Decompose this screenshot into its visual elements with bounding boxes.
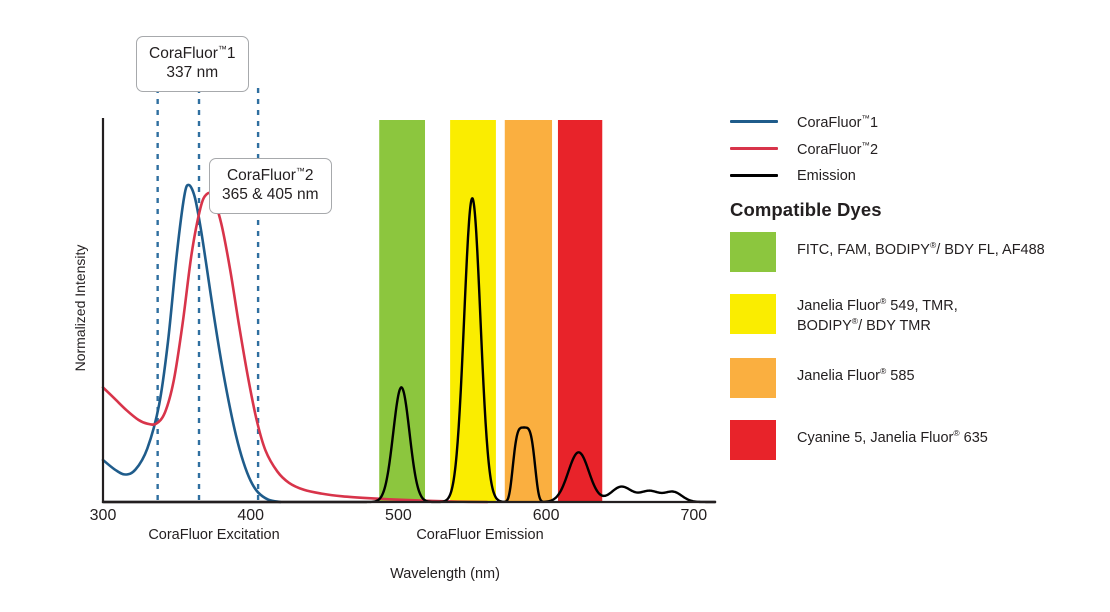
dye-label-line1: Cyanine 5, Janelia Fluor® 635 (797, 428, 988, 448)
callout-corafluor1: CoraFluor™1 337 nm (136, 36, 249, 92)
callout-cf1-line1: CoraFluor™1 (149, 44, 236, 64)
dye-name-text: Janelia Fluor (797, 298, 880, 314)
dye-name-text: Cyanine 5, Janelia Fluor (797, 430, 953, 446)
legend-label-text: CoraFluor (797, 114, 861, 130)
chart-canvas: CoraFluor™1 337 nm CoraFluor™2 365 & 405… (0, 0, 1110, 612)
legend-label-text: Emission (797, 168, 856, 184)
dye-detail-text: 585 (886, 368, 914, 384)
dye-detail-text: 635 (960, 430, 988, 446)
x-tick-600: 600 (516, 507, 576, 525)
callout-cf1-name: CoraFluor (149, 45, 218, 62)
trademark-symbol: ™ (861, 113, 870, 123)
legend-item-label: CoraFluor™1 (797, 113, 878, 131)
compatible-dyes-title: Compatible Dyes (730, 199, 882, 221)
dye-name-text2: BODIPY (797, 318, 852, 334)
dye-label: Janelia Fluor® 585 (797, 358, 915, 386)
emission-band-group (379, 120, 602, 502)
legend-item-1[interactable]: CoraFluor™2 (730, 135, 1090, 162)
dye-name-text: FITC, FAM, BODIPY (797, 242, 930, 258)
legend-line-swatch (730, 120, 778, 123)
legend-item-2[interactable]: Emission (730, 162, 1090, 189)
compatible-dyes-list: FITC, FAM, BODIPY®/ BDY FL, AF488Janelia… (730, 232, 1102, 482)
dye-detail-text2: / BDY TMR (858, 318, 931, 334)
trademark-symbol: ™ (861, 140, 870, 150)
x-tick-300: 300 (73, 507, 133, 525)
callout-corafluor2: CoraFluor™2 365 & 405 nm (209, 158, 332, 214)
series-legend: CoraFluor™1CoraFluor™2Emission (730, 108, 1090, 189)
excitation-curve (103, 185, 280, 502)
dye-color-swatch (730, 294, 776, 334)
dye-item-3[interactable]: Cyanine 5, Janelia Fluor® 635 (730, 420, 1102, 460)
x-axis-title: Wavelength (nm) (295, 566, 595, 582)
dye-label-line2: BODIPY®/ BDY TMR (797, 316, 958, 336)
dye-name-text: Janelia Fluor (797, 368, 880, 384)
dye-color-swatch (730, 358, 776, 398)
callout-cf2-wavelength: 365 & 405 nm (222, 186, 319, 205)
dye-label: FITC, FAM, BODIPY®/ BDY FL, AF488 (797, 232, 1045, 260)
legend-item-0[interactable]: CoraFluor™1 (730, 108, 1090, 135)
x-tick-700: 700 (664, 507, 724, 525)
callout-cf2-line1: CoraFluor™2 (222, 166, 319, 186)
callout-cf2-name: CoraFluor (227, 167, 296, 184)
legend-label-text: CoraFluor (797, 141, 861, 157)
dye-color-swatch (730, 232, 776, 272)
dye-label-line1: Janelia Fluor® 549, TMR, (797, 296, 958, 316)
legend-item-label: CoraFluor™2 (797, 140, 878, 158)
dye-label: Cyanine 5, Janelia Fluor® 635 (797, 420, 988, 448)
dye-label-line1: FITC, FAM, BODIPY®/ BDY FL, AF488 (797, 240, 1045, 260)
axis-section-emission: CoraFluor Emission (360, 527, 600, 543)
legend-line-swatch (730, 174, 778, 177)
trademark-symbol: ™ (296, 166, 305, 176)
dye-item-1[interactable]: Janelia Fluor® 549, TMR,BODIPY®/ BDY TMR (730, 294, 1102, 336)
dye-item-2[interactable]: Janelia Fluor® 585 (730, 358, 1102, 398)
dye-color-swatch (730, 420, 776, 460)
legend-label-index: 2 (870, 141, 878, 157)
legend-label-index: 1 (870, 114, 878, 130)
emission-band (379, 120, 425, 502)
legend-line-swatch (730, 147, 778, 150)
dye-detail-text: 549, TMR, (886, 298, 957, 314)
dye-label-line1: Janelia Fluor® 585 (797, 366, 915, 386)
trademark-symbol: ™ (218, 44, 227, 54)
dye-item-0[interactable]: FITC, FAM, BODIPY®/ BDY FL, AF488 (730, 232, 1102, 272)
callout-cf1-wavelength: 337 nm (149, 64, 236, 83)
axis-section-excitation: CoraFluor Excitation (94, 527, 334, 543)
legend-item-label: Emission (797, 168, 856, 184)
dye-detail-text: / BDY FL, AF488 (936, 242, 1045, 258)
y-axis-title: Normalized Intensity (72, 208, 88, 408)
x-tick-400: 400 (221, 507, 281, 525)
callout-cf1-index: 1 (227, 45, 236, 62)
dye-label: Janelia Fluor® 549, TMR,BODIPY®/ BDY TMR (797, 294, 958, 336)
callout-cf2-index: 2 (305, 167, 314, 184)
excitation-curve (103, 193, 487, 502)
emission-band (505, 120, 552, 502)
x-tick-500: 500 (368, 507, 428, 525)
emission-band (558, 120, 602, 502)
